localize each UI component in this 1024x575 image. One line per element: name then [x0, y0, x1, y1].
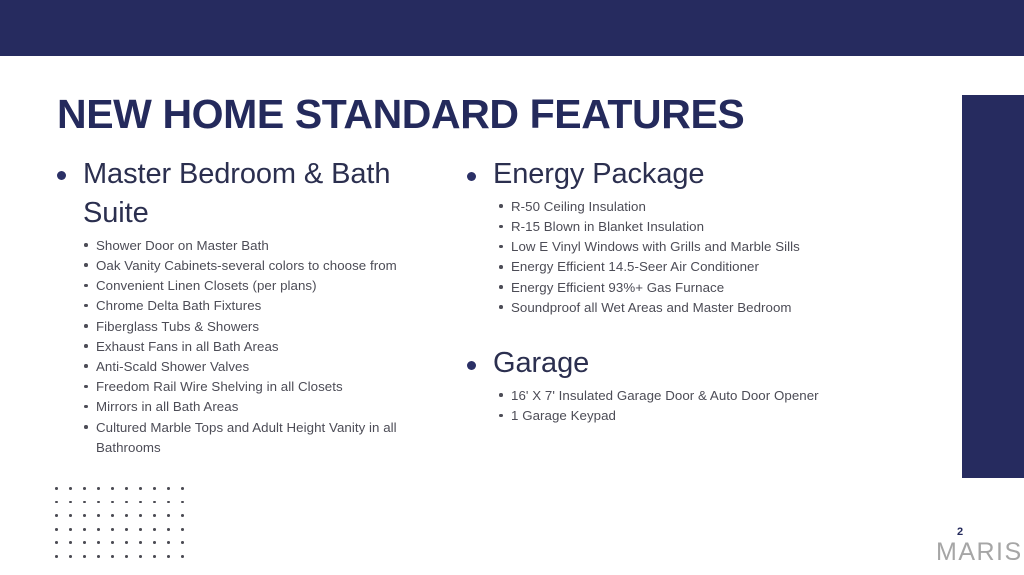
- dot-icon: [55, 528, 58, 531]
- dot-icon: [139, 528, 142, 531]
- dot-icon: [97, 555, 100, 558]
- group-heading-row: Garage: [460, 344, 880, 383]
- dot-icon: [83, 501, 86, 504]
- section-spacer: [460, 322, 880, 344]
- feature-group: Energy Package R-50 Ceiling Insulation R…: [460, 155, 880, 318]
- group-heading-label: Master Bedroom & Bath Suite: [83, 155, 450, 233]
- dot-icon: [111, 514, 114, 517]
- dot-icon: [153, 514, 156, 517]
- list-item: Convenient Linen Closets (per plans): [50, 276, 450, 296]
- dot-icon: [55, 555, 58, 558]
- dot-icon: [139, 487, 142, 490]
- dot-icon: [111, 555, 114, 558]
- dot-icon: [167, 528, 170, 531]
- dot-icon: [69, 514, 72, 517]
- dot-icon: [55, 501, 58, 504]
- feature-list: 16' X 7' Insulated Garage Door & Auto Do…: [460, 386, 880, 426]
- dot-icon: [167, 501, 170, 504]
- group-heading-row: Energy Package: [460, 155, 880, 194]
- list-item: R-50 Ceiling Insulation: [460, 197, 880, 217]
- list-item: Fiberglass Tubs & Showers: [50, 317, 450, 337]
- dot-icon: [167, 555, 170, 558]
- dot-icon: [69, 487, 72, 490]
- dot-icon: [181, 501, 184, 504]
- dot-icon: [139, 541, 142, 544]
- dot-icon: [55, 514, 58, 517]
- dot-icon: [125, 514, 128, 517]
- dot-grid-decoration: [55, 487, 195, 569]
- dot-icon: [55, 541, 58, 544]
- list-item: R-15 Blown in Blanket Insulation: [460, 217, 880, 237]
- top-navy-band: [0, 0, 1024, 56]
- group-heading-row: Master Bedroom & Bath Suite: [50, 155, 450, 233]
- page-number: 2: [957, 526, 963, 538]
- dot-icon: [97, 528, 100, 531]
- dot-icon: [97, 541, 100, 544]
- feature-group: Garage 16' X 7' Insulated Garage Door & …: [460, 344, 880, 426]
- dot-icon: [69, 528, 72, 531]
- list-item: Anti-Scald Shower Valves: [50, 357, 450, 377]
- dot-icon: [181, 541, 184, 544]
- dot-icon: [139, 514, 142, 517]
- list-item: Freedom Rail Wire Shelving in all Closet…: [50, 377, 450, 397]
- dot-icon: [139, 501, 142, 504]
- brand-logo-text: MARIS: [936, 538, 1023, 567]
- list-item: Soundproof all Wet Areas and Master Bedr…: [460, 298, 880, 318]
- dot-icon: [111, 487, 114, 490]
- dot-icon: [181, 528, 184, 531]
- dot-icon: [153, 528, 156, 531]
- dot-icon: [125, 501, 128, 504]
- dot-icon: [83, 541, 86, 544]
- list-item: Oak Vanity Cabinets-several colors to ch…: [50, 256, 450, 276]
- list-item: Energy Efficient 14.5-Seer Air Condition…: [460, 257, 880, 277]
- feature-list: R-50 Ceiling Insulation R-15 Blown in Bl…: [460, 197, 880, 318]
- feature-list: Shower Door on Master Bath Oak Vanity Ca…: [50, 236, 450, 458]
- list-item: Low E Vinyl Windows with Grills and Marb…: [460, 237, 880, 257]
- dot-icon: [153, 555, 156, 558]
- dot-icon: [167, 541, 170, 544]
- page-title: NEW HOME STANDARD FEATURES: [57, 92, 744, 136]
- list-item: 16' X 7' Insulated Garage Door & Auto Do…: [460, 386, 880, 406]
- dot-icon: [153, 541, 156, 544]
- dot-icon: [55, 487, 58, 490]
- dot-icon: [167, 514, 170, 517]
- dot-icon: [125, 555, 128, 558]
- dot-icon: [97, 487, 100, 490]
- dot-icon: [83, 514, 86, 517]
- dot-icon: [181, 514, 184, 517]
- dot-icon: [69, 541, 72, 544]
- dot-icon: [125, 487, 128, 490]
- dot-icon: [83, 487, 86, 490]
- list-item: Exhaust Fans in all Bath Areas: [50, 337, 450, 357]
- bullet-dot-icon: [57, 171, 66, 180]
- list-item: 1 Garage Keypad: [460, 406, 880, 426]
- list-item: Cultured Marble Tops and Adult Height Va…: [50, 418, 450, 458]
- dot-icon: [167, 487, 170, 490]
- list-item: Energy Efficient 93%+ Gas Furnace: [460, 278, 880, 298]
- dot-icon: [181, 487, 184, 490]
- dot-icon: [111, 541, 114, 544]
- dot-icon: [97, 514, 100, 517]
- dot-icon: [97, 501, 100, 504]
- list-item: Shower Door on Master Bath: [50, 236, 450, 256]
- dot-icon: [111, 528, 114, 531]
- bullet-dot-icon: [467, 172, 476, 181]
- slide-canvas: NEW HOME STANDARD FEATURES Master Bedroo…: [0, 0, 1024, 575]
- dot-icon: [83, 555, 86, 558]
- list-item: Mirrors in all Bath Areas: [50, 397, 450, 417]
- group-heading-label: Garage: [493, 344, 589, 383]
- dot-icon: [83, 528, 86, 531]
- dot-icon: [125, 528, 128, 531]
- feature-group: Master Bedroom & Bath Suite Shower Door …: [50, 155, 450, 458]
- dot-icon: [125, 541, 128, 544]
- list-item: Chrome Delta Bath Fixtures: [50, 296, 450, 316]
- bullet-dot-icon: [467, 361, 476, 370]
- right-navy-band: [962, 95, 1024, 478]
- group-heading-label: Energy Package: [493, 155, 704, 194]
- dot-icon: [181, 555, 184, 558]
- dot-icon: [153, 487, 156, 490]
- dot-icon: [69, 501, 72, 504]
- left-content-column: Master Bedroom & Bath Suite Shower Door …: [50, 155, 450, 462]
- right-content-column: Energy Package R-50 Ceiling Insulation R…: [460, 155, 880, 430]
- dot-icon: [111, 501, 114, 504]
- dot-icon: [69, 555, 72, 558]
- dot-icon: [139, 555, 142, 558]
- dot-icon: [153, 501, 156, 504]
